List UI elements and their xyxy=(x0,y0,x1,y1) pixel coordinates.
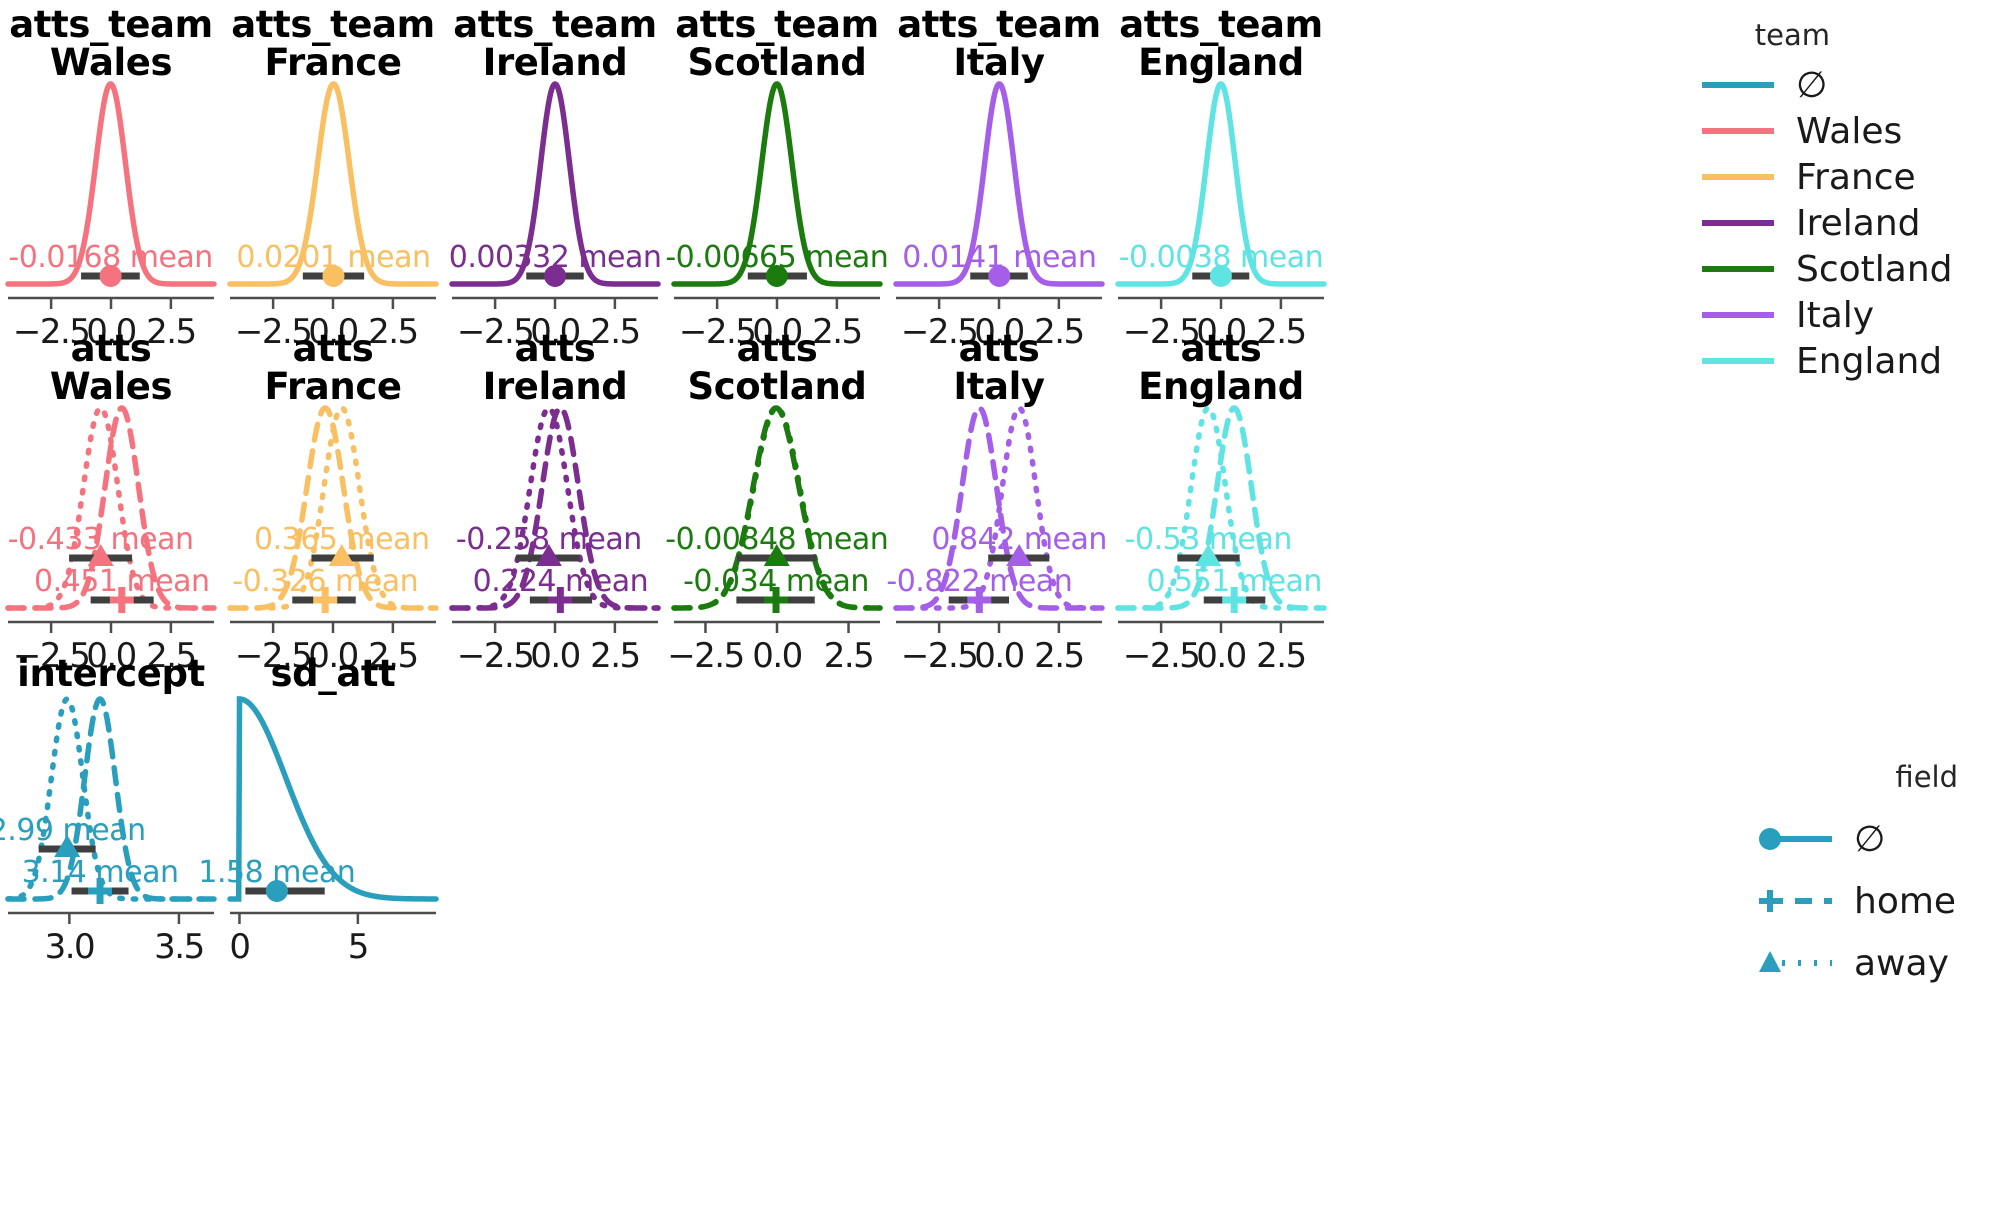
legend-item-england[interactable]: England xyxy=(1700,338,1953,384)
x-tick-label: 0.0 xyxy=(974,636,1024,676)
legend-item-ireland[interactable]: Ireland xyxy=(1700,200,1953,246)
legend-label: ∅ xyxy=(1796,65,1827,106)
panel-title: atts_team France xyxy=(230,6,436,84)
panel-title: atts_team Italy xyxy=(896,6,1102,84)
plot-area-intercept: 3.03.52.99 mean3.14 mean xyxy=(8,699,214,945)
legend-label: Italy xyxy=(1796,295,1874,336)
panel-title: atts Wales xyxy=(8,330,214,408)
legend-item-italy[interactable]: Italy xyxy=(1700,292,1953,338)
circle-marker-icon xyxy=(1759,828,1781,850)
x-tick-label: −2.5 xyxy=(901,636,978,676)
panel-title: intercept xyxy=(8,655,214,699)
panel-title: atts Scotland xyxy=(674,330,880,408)
plot-area-atts_team-Ireland: −2.50.02.50.00332 mean xyxy=(452,84,658,330)
panel-title: atts_team Ireland xyxy=(452,6,658,84)
line-swatch-icon xyxy=(1700,68,1778,102)
plot-area-atts_team-Italy: −2.50.02.50.0141 mean xyxy=(896,84,1102,330)
legend-item-wales[interactable]: Wales xyxy=(1700,108,1953,154)
mean-label-away: 0.365 mean xyxy=(254,522,430,557)
legend-item-home[interactable]: home xyxy=(1758,870,1958,932)
legend-title: team xyxy=(1700,18,1830,52)
x-tick-label: 3.0 xyxy=(45,927,95,967)
mean-label-away: -0.53 mean xyxy=(1125,522,1292,557)
triangle-marker-icon xyxy=(1759,951,1781,972)
x-tick-label: −2.5 xyxy=(1123,636,1200,676)
x-tick-label: 0 xyxy=(229,927,249,967)
line-swatch-icon xyxy=(1700,298,1778,332)
mean-label-∅: 0.0141 mean xyxy=(902,240,1096,275)
legend-label: Scotland xyxy=(1796,249,1953,290)
dotted-line-triangle-icon xyxy=(1758,946,1836,980)
mean-label-away: -0.433 mean xyxy=(8,522,194,557)
panel-title: atts_team Scotland xyxy=(674,6,880,84)
legend-item-default[interactable]: ∅ xyxy=(1758,808,1958,870)
mean-label-∅: 0.0201 mean xyxy=(236,240,430,275)
mean-label-∅: -0.00665 mean xyxy=(665,240,888,275)
mean-label-home: 0.551 mean xyxy=(1146,564,1322,599)
plot-area-atts_team-Wales: −2.50.02.5-0.0168 mean xyxy=(8,84,214,330)
legend-label: England xyxy=(1796,341,1942,382)
mean-label-∅: -0.0038 mean xyxy=(1119,240,1323,275)
dashed-line-plus-icon xyxy=(1758,884,1836,918)
plot-area-atts-Italy: −2.50.02.50.842 mean-0.822 mean xyxy=(896,408,1102,654)
legend-item-france[interactable]: France xyxy=(1700,154,1953,200)
line-swatch-icon xyxy=(1700,252,1778,286)
plot-area-atts-England: −2.50.02.5-0.53 mean0.551 mean xyxy=(1118,408,1324,654)
posterior-grid-figure: atts_team Wales−2.50.02.5-0.0168 meanatt… xyxy=(0,0,2012,1223)
plus-marker-icon xyxy=(1759,890,1781,912)
panel-title: atts France xyxy=(230,330,436,408)
x-tick-label: 5 xyxy=(348,927,368,967)
panel-title: atts Italy xyxy=(896,330,1102,408)
panel-title: atts Ireland xyxy=(452,330,658,408)
plot-area-atts-France: −2.50.02.50.365 mean-0.326 mean xyxy=(230,408,436,654)
line-swatch-icon xyxy=(1700,206,1778,240)
x-tick-label: 3.5 xyxy=(154,927,204,967)
plot-area-sd_att: 051.58 mean xyxy=(230,699,436,945)
legend-label: away xyxy=(1854,943,1949,984)
legend-team: team∅WalesFranceIrelandScotlandItalyEngl… xyxy=(1700,18,1953,384)
plot-area-atts-Wales: −2.50.02.5-0.433 mean0.451 mean xyxy=(8,408,214,654)
x-tick-label: 2.5 xyxy=(1256,636,1306,676)
mean-label-∅: -0.0168 mean xyxy=(8,240,212,275)
plot-area-atts_team-France: −2.50.02.50.0201 mean xyxy=(230,84,436,330)
mean-label-home: 3.14 mean xyxy=(22,855,179,890)
panel-title: atts England xyxy=(1118,330,1324,408)
mean-label-home: -0.822 mean xyxy=(886,564,1072,599)
x-tick-label: 2.5 xyxy=(590,636,640,676)
legend-label: Ireland xyxy=(1796,203,1921,244)
plot-area-atts-Scotland: −2.50.02.5-0.00848 mean-0.034 mean xyxy=(674,408,880,654)
line-swatch-icon xyxy=(1700,114,1778,148)
line-swatch-icon xyxy=(1700,160,1778,194)
mean-label-home: 0.224 mean xyxy=(473,564,649,599)
mean-label-away: -0.00848 mean xyxy=(665,522,888,557)
legend-title: field xyxy=(1758,760,1958,794)
x-tick-label: −2.5 xyxy=(667,636,744,676)
legend-label: Wales xyxy=(1796,111,1902,152)
plot-area-atts_team-England: −2.50.02.5-0.0038 mean xyxy=(1118,84,1324,330)
mean-label-away: -0.258 mean xyxy=(456,522,642,557)
legend-label: home xyxy=(1854,881,1956,922)
mean-label-home: -0.034 mean xyxy=(683,564,869,599)
mean-label-home: 0.451 mean xyxy=(34,564,210,599)
mean-label-∅: 0.00332 mean xyxy=(449,240,662,275)
x-tick-label: 0.0 xyxy=(530,636,580,676)
panel-title: atts_team England xyxy=(1118,6,1324,84)
legend-item-away[interactable]: away xyxy=(1758,932,1958,994)
legend-field: field∅homeaway xyxy=(1758,760,1958,994)
x-tick-label: −2.5 xyxy=(457,636,534,676)
legend-label: ∅ xyxy=(1854,819,1885,860)
plot-area-atts-Ireland: −2.50.02.5-0.258 mean0.224 mean xyxy=(452,408,658,654)
mean-label-away: 0.842 mean xyxy=(931,522,1107,557)
x-tick-label: 0.0 xyxy=(1196,636,1246,676)
plot-area-atts_team-Scotland: −2.50.02.5-0.00665 mean xyxy=(674,84,880,330)
legend-label: France xyxy=(1796,157,1916,198)
legend-item-scotland[interactable]: Scotland xyxy=(1700,246,1953,292)
x-tick-label: 2.5 xyxy=(1034,636,1084,676)
legend-item-default[interactable]: ∅ xyxy=(1700,62,1953,108)
x-tick-label: 2.5 xyxy=(824,636,874,676)
x-tick-label: 0.0 xyxy=(752,636,802,676)
line-swatch-icon xyxy=(1700,344,1778,378)
mean-label-away: 2.99 mean xyxy=(0,813,146,848)
panel-title: sd_att xyxy=(230,655,436,699)
solid-line-circle-icon xyxy=(1758,822,1836,856)
panel-title: atts_team Wales xyxy=(8,6,214,84)
mean-label-∅: 1.58 mean xyxy=(198,855,355,890)
mean-label-home: -0.326 mean xyxy=(232,564,418,599)
